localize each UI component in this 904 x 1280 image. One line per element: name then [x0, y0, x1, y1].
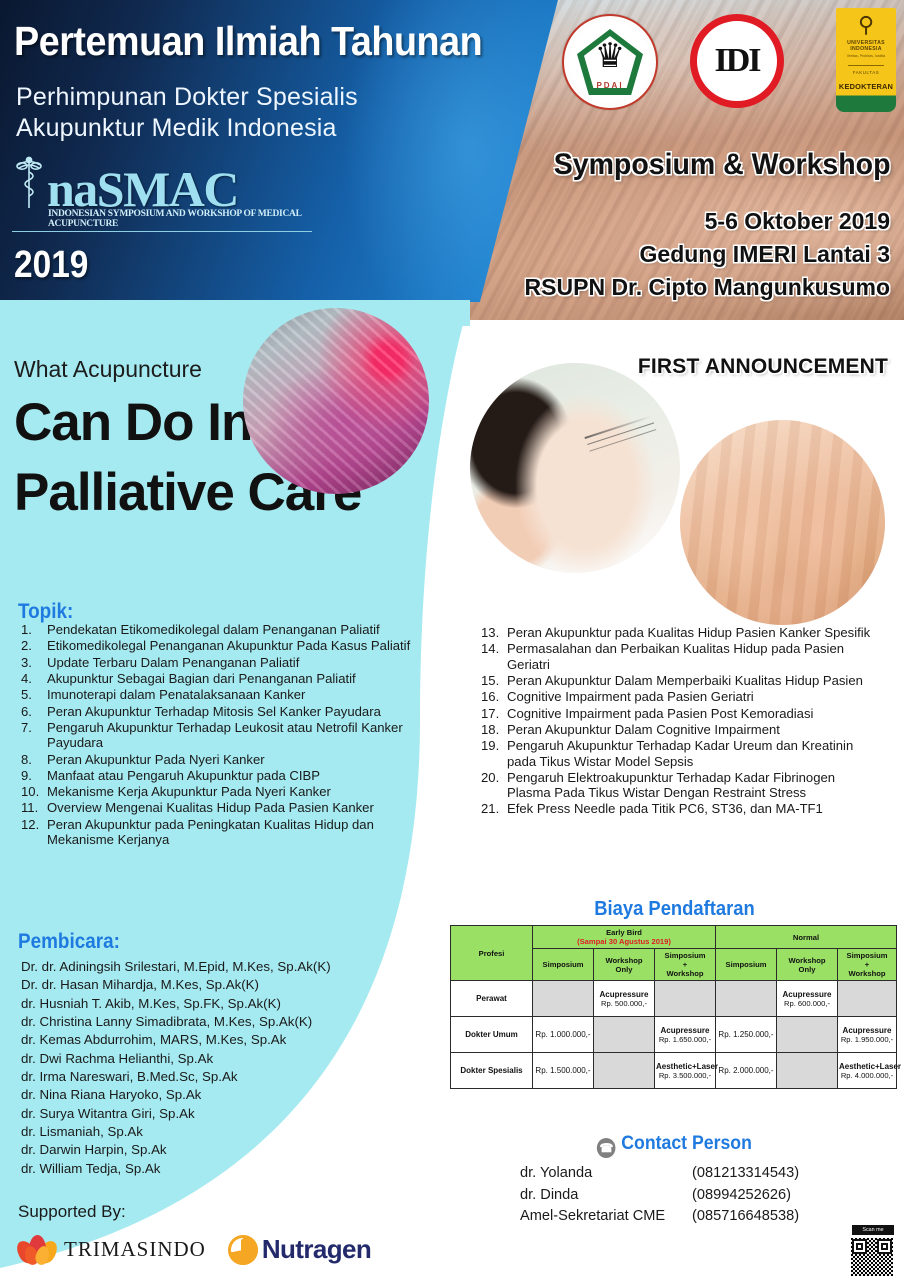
- caduceus-icon: [12, 156, 46, 212]
- col-header-simposium-workshop: Simposium+Workshop: [655, 949, 716, 981]
- topic-text: Overview Mengenai Kualitas Hidup Pada Pa…: [47, 800, 374, 815]
- facial-acupuncture-photo: [470, 363, 680, 573]
- fee-table-group-header-row: Profesi Early Bird (Sampai 30 Agustus 20…: [451, 926, 897, 949]
- topic-item: 6.Peran Akupunktur Terhadap Mitosis Sel …: [21, 704, 413, 719]
- topic-text: Pengaruh Akupunktur Terhadap Leukosit at…: [47, 720, 403, 750]
- contact-person-item: Amel-Sekretariat CME(085716648538): [520, 1206, 860, 1228]
- ui-crest-icon: ⚲: [858, 14, 874, 36]
- fee-cell: AcupressureRp. 500.000,-: [594, 981, 655, 1017]
- fee-package-label: Acupressure: [595, 990, 653, 999]
- topic-number: 19.: [481, 738, 504, 753]
- fee-cell: [716, 981, 777, 1017]
- speaker-item: dr. Lismaniah, Sp.Ak: [21, 1123, 421, 1141]
- fee-amount: Rp. 600.000,-: [778, 999, 836, 1008]
- topics-list-left: 1.Pendekatan Etikomedikolegal dalam Pena…: [21, 622, 413, 848]
- col-header-workshop-only: WorkshopOnly: [594, 949, 655, 981]
- nutragen-logo: Nutragen: [228, 1234, 371, 1265]
- pdai-logo: ♛ PDAI: [562, 14, 658, 110]
- topic-number: 18.: [481, 722, 504, 737]
- fee-package-label: Acupressure: [839, 1026, 895, 1035]
- topic-number: 1.: [21, 622, 44, 637]
- contact-person-item: dr. Dinda(08994252626): [520, 1185, 860, 1207]
- fee-cell: Rp. 1.500.000,-: [533, 1053, 594, 1089]
- topic-item: 2.Etikomedikolegal Penanganan Akupunktur…: [21, 638, 413, 653]
- speakers-heading: Pembicara:: [18, 930, 120, 954]
- topic-text: Peran Akupunktur Pada Nyeri Kanker: [47, 752, 265, 767]
- fee-cell: [594, 1053, 655, 1089]
- topic-text: Pengaruh Akupunktur Terhadap Kadar Ureum…: [507, 738, 853, 768]
- topic-text: Etikomedikolegal Penanganan Akupunktur P…: [47, 638, 410, 653]
- fee-amount: Rp. 1.250.000,-: [718, 1030, 773, 1039]
- topic-item: 21.Efek Press Needle pada Titik PC6, ST3…: [481, 801, 881, 816]
- topic-item: 13.Peran Akupunktur pada Kualitas Hidup …: [481, 625, 881, 640]
- qr-code[interactable]: [851, 1238, 893, 1276]
- topic-number: 15.: [481, 673, 504, 688]
- contact-name: dr. Yolanda: [520, 1163, 692, 1185]
- fees-heading: Biaya Pendaftaran: [463, 898, 885, 921]
- ui-faculty-label: FAKULTAS: [853, 70, 880, 75]
- contact-name: dr. Dinda: [520, 1185, 692, 1207]
- organization-subtitle: Perhimpunan Dokter Spesialis Akupunktur …: [16, 82, 358, 143]
- topic-item: 18.Peran Akupunktur Dalam Cognitive Impa…: [481, 722, 881, 737]
- trimasindo-logo: TRIMASINDO: [18, 1235, 206, 1265]
- topic-text: Cognitive Impairment pada Pasien Post Ke…: [507, 706, 813, 721]
- fee-row-profesi: Perawat: [451, 981, 533, 1017]
- topic-text: Cognitive Impairment pada Pasien Geriatr…: [507, 689, 754, 704]
- fee-cell: AcupressureRp. 1.650.000,-: [655, 1017, 716, 1053]
- topic-text: Peran Akupunktur Dalam Memperbaiki Kuali…: [507, 673, 863, 688]
- topic-number: 20.: [481, 770, 504, 785]
- subtitle-line-2: Akupunktur Medik Indonesia: [16, 113, 358, 144]
- topic-item: 7.Pengaruh Akupunktur Terhadap Leukosit …: [21, 720, 413, 751]
- topic-item: 14.Permasalahan dan Perbaikan Kualitas H…: [481, 641, 881, 672]
- fee-row-profesi: Dokter Umum: [451, 1017, 533, 1053]
- page-title: Pertemuan Ilmiah Tahunan: [14, 18, 482, 65]
- fee-cell: [777, 1053, 838, 1089]
- topic-text: Imunoterapi dalam Penatalaksanaan Kanker: [47, 687, 305, 702]
- topics-heading: Topik:: [18, 600, 73, 624]
- topic-item: 5.Imunoterapi dalam Penatalaksanaan Kank…: [21, 687, 413, 702]
- fee-cell: [594, 1017, 655, 1053]
- topic-item: 15.Peran Akupunktur Dalam Memperbaiki Ku…: [481, 673, 881, 688]
- topic-item: 9.Manfaat atau Pengaruh Akupunktur pada …: [21, 768, 413, 783]
- fee-package-label: Aesthetic+Laser: [656, 1062, 714, 1071]
- idi-logo-text: IDI: [714, 42, 759, 80]
- contact-person-list: dr. Yolanda(081213314543)dr. Dinda(08994…: [520, 1163, 860, 1228]
- topic-number: 6.: [21, 704, 44, 719]
- topic-text: Peran Akupunktur pada Peningkatan Kualit…: [47, 817, 374, 847]
- ui-university-name: UNIVERSITAS INDONESIA: [836, 40, 896, 52]
- headline-line-1: Can Do In: [14, 396, 252, 449]
- wheat-circle-icon: [228, 1235, 258, 1265]
- fee-cell: [777, 1017, 838, 1053]
- fee-amount: Rp. 1.500.000,-: [535, 1066, 590, 1075]
- topic-item: 19.Pengaruh Akupunktur Terhadap Kadar Ur…: [481, 738, 881, 769]
- topic-item: 10.Mekanisme Kerja Akupunktur Pada Nyeri…: [21, 784, 413, 799]
- acupressure-hand-photo: [680, 420, 885, 625]
- early-bird-deadline: (Sampai 30 Agustus 2019): [534, 937, 714, 946]
- topic-number: 9.: [21, 768, 44, 783]
- pdai-logo-text: PDAI: [577, 81, 643, 90]
- registration-fee-table: Profesi Early Bird (Sampai 30 Agustus 20…: [450, 925, 897, 1089]
- ui-faculty-name: KEDOKTERAN: [839, 82, 893, 91]
- fee-package-label: Acupressure: [656, 1026, 714, 1035]
- fee-cell: [533, 981, 594, 1017]
- fee-package-label: Aesthetic+Laser: [839, 1062, 895, 1071]
- supported-by-heading: Supported By:: [18, 1202, 126, 1222]
- early-bird-label: Early Bird: [606, 928, 642, 937]
- topic-number: 8.: [21, 752, 44, 767]
- topic-text: Pendekatan Etikomedikolegal dalam Penang…: [47, 622, 380, 637]
- laser-therapy-photo: [243, 308, 429, 494]
- event-date: 5-6 Oktober 2019: [705, 208, 890, 235]
- group-header-early-bird: Early Bird (Sampai 30 Agustus 2019): [533, 926, 716, 949]
- contact-phone[interactable]: (08994252626): [692, 1185, 791, 1207]
- phone-icon: ☎: [597, 1138, 616, 1158]
- fee-cell: AcupressureRp. 600.000,-: [777, 981, 838, 1017]
- topic-item: 8.Peran Akupunktur Pada Nyeri Kanker: [21, 752, 413, 767]
- fee-cell: Rp. 1.000.000,-: [533, 1017, 594, 1053]
- topic-number: 7.: [21, 720, 44, 735]
- topic-number: 16.: [481, 689, 504, 704]
- fee-amount: Rp. 3.500.000,-: [656, 1071, 714, 1080]
- fee-amount: Rp. 4.000.000,-: [839, 1071, 895, 1080]
- lotus-icon: [18, 1235, 56, 1265]
- topic-number: 3.: [21, 655, 44, 670]
- fee-amount: Rp. 1.650.000,-: [656, 1035, 714, 1044]
- nutragen-wordmark: Nutragen: [262, 1234, 371, 1265]
- speaker-item: dr. Darwin Harpin, Sp.Ak: [21, 1141, 421, 1159]
- col-header-simposium: Simposium: [533, 949, 594, 981]
- contact-heading-text: Contact Person: [621, 1133, 752, 1154]
- fee-package-label: Acupressure: [778, 990, 836, 999]
- topic-item: 1.Pendekatan Etikomedikolegal dalam Pena…: [21, 622, 413, 637]
- topic-item: 20.Pengaruh Elektroakupunktur Terhadap K…: [481, 770, 881, 801]
- event-type: Symposium & Workshop: [553, 148, 890, 182]
- topic-number: 10.: [21, 784, 44, 799]
- universitas-indonesia-logo: ⚲ UNIVERSITAS INDONESIA Veritas, Probita…: [836, 8, 896, 112]
- fee-row-profesi: Dokter Spesialis: [451, 1053, 533, 1089]
- speaker-item: dr. Christina Lanny Simadibrata, M.Kes, …: [21, 1013, 421, 1031]
- topic-text: Akupunktur Sebagai Bagian dari Penangana…: [47, 671, 356, 686]
- topic-number: 14.: [481, 641, 504, 656]
- contact-phone[interactable]: (085716648538): [692, 1206, 799, 1228]
- fee-table-row: Dokter UmumRp. 1.000.000,-AcupressureRp.…: [451, 1017, 897, 1053]
- fee-cell: AcupressureRp. 1.950.000,-: [838, 1017, 897, 1053]
- fee-cell: Rp. 2.000.000,-: [716, 1053, 777, 1089]
- topic-number: 13.: [481, 625, 504, 640]
- topic-item: 3.Update Terbaru Dalam Penanganan Paliat…: [21, 655, 413, 670]
- topic-text: Mekanisme Kerja Akupunktur Pada Nyeri Ka…: [47, 784, 331, 799]
- first-announcement-badge: FIRST ANNOUNCEMENT: [638, 355, 888, 379]
- topic-text: Peran Akupunktur Dalam Cognitive Impairm…: [507, 722, 780, 737]
- topic-item: 4.Akupunktur Sebagai Bagian dari Penanga…: [21, 671, 413, 686]
- col-header-profesi: Profesi: [451, 926, 533, 981]
- headline-small: What Acupuncture: [14, 356, 202, 383]
- speakers-list: Dr. dr. Adiningsih Srilestari, M.Epid, M…: [21, 958, 421, 1178]
- fee-amount: Rp. 1.000.000,-: [535, 1030, 590, 1039]
- nasmac-tagline: INDONESIAN SYMPOSIUM AND WORKSHOP OF MED…: [12, 209, 312, 232]
- topic-number: 5.: [21, 687, 44, 702]
- subtitle-line-1: Perhimpunan Dokter Spesialis: [16, 82, 358, 113]
- fee-table-row: Dokter SpesialisRp. 1.500.000,-Aesthetic…: [451, 1053, 897, 1089]
- trimasindo-wordmark: TRIMASINDO: [64, 1237, 206, 1262]
- fee-cell: Aesthetic+LaserRp. 3.500.000,-: [655, 1053, 716, 1089]
- topic-text: Permasalahan dan Perbaikan Kualitas Hidu…: [507, 641, 844, 671]
- topics-list-right: 13.Peran Akupunktur pada Kualitas Hidup …: [481, 625, 881, 818]
- speaker-item: dr. Surya Witantra Giri, Sp.Ak: [21, 1105, 421, 1123]
- fee-table-row: PerawatAcupressureRp. 500.000,-Acupressu…: [451, 981, 897, 1017]
- idi-logo: IDI: [690, 14, 784, 108]
- fee-amount: Rp. 2.000.000,-: [718, 1066, 773, 1075]
- topic-number: 11.: [21, 800, 44, 815]
- fee-amount: Rp. 500.000,-: [595, 999, 653, 1008]
- speaker-item: dr. William Tedja, Sp.Ak: [21, 1160, 421, 1178]
- fee-table-body: PerawatAcupressureRp. 500.000,-Acupressu…: [451, 981, 897, 1089]
- nasmac-logo: naSMAC INDONESIAN SYMPOSIUM AND WORKSHOP…: [12, 156, 312, 232]
- topic-item: 12.Peran Akupunktur pada Peningkatan Kua…: [21, 817, 413, 848]
- topic-item: 17.Cognitive Impairment pada Pasien Post…: [481, 706, 881, 721]
- speaker-item: Dr. dr. Adiningsih Srilestari, M.Epid, M…: [21, 958, 421, 976]
- fee-cell: [838, 981, 897, 1017]
- ui-motto: Veritas, Probitas, Iustitia: [847, 54, 886, 58]
- topic-text: Peran Akupunktur pada Kualitas Hidup Pas…: [507, 625, 870, 640]
- speaker-item: dr. Dwi Rachma Helianthi, Sp.Ak: [21, 1050, 421, 1068]
- contact-name: Amel-Sekretariat CME: [520, 1206, 692, 1228]
- topic-text: Manfaat atau Pengaruh Akupunktur pada CI…: [47, 768, 320, 783]
- topic-item: 16.Cognitive Impairment pada Pasien Geri…: [481, 689, 881, 704]
- topic-text: Pengaruh Elektroakupunktur Terhadap Kada…: [507, 770, 835, 800]
- topic-text: Update Terbaru Dalam Penanganan Paliatif: [47, 655, 299, 670]
- topic-number: 12.: [21, 817, 44, 832]
- event-hospital: RSUPN Dr. Cipto Mangunkusumo: [525, 274, 890, 301]
- conference-poster: Pertemuan Ilmiah Tahunan Perhimpunan Dok…: [0, 0, 904, 1280]
- speaker-item: dr. Kemas Abdurrohim, MARS, M.Kes, Sp.Ak: [21, 1031, 421, 1049]
- ui-divider: [848, 65, 884, 66]
- topic-number: 4.: [21, 671, 44, 686]
- group-header-normal: Normal: [716, 926, 897, 949]
- topic-text: Efek Press Needle pada Titik PC6, ST36, …: [507, 801, 823, 816]
- contact-person-item: dr. Yolanda(081213314543): [520, 1163, 860, 1185]
- fee-cell: [655, 981, 716, 1017]
- speaker-item: dr. Irma Nareswari, B.Med.Sc, Sp.Ak: [21, 1068, 421, 1086]
- speaker-item: dr. Husniah T. Akib, M.Kes, Sp.FK, Sp.Ak…: [21, 995, 421, 1013]
- col-header-simposium: Simposium: [716, 949, 777, 981]
- topic-item: 11.Overview Mengenai Kualitas Hidup Pada…: [21, 800, 413, 815]
- col-header-workshop-only: WorkshopOnly: [777, 949, 838, 981]
- event-year: 2019: [14, 244, 88, 287]
- speaker-item: Dr. dr. Hasan Mihardja, M.Kes, Sp.Ak(K): [21, 976, 421, 994]
- fee-cell: Aesthetic+LaserRp. 4.000.000,-: [838, 1053, 897, 1089]
- contact-heading: ☎Contact Person: [461, 1133, 888, 1158]
- col-header-simposium-workshop: Simposium+Workshop: [838, 949, 897, 981]
- topic-number: 17.: [481, 706, 504, 721]
- topic-number: 2.: [21, 638, 44, 653]
- fee-amount: Rp. 1.950.000,-: [839, 1035, 895, 1044]
- qr-scan-label: Scan me: [852, 1225, 894, 1235]
- speaker-item: dr. Nina Riana Haryoko, Sp.Ak: [21, 1086, 421, 1104]
- topic-number: 21.: [481, 801, 504, 816]
- contact-phone[interactable]: (081213314543): [692, 1163, 799, 1185]
- sponsor-logos: TRIMASINDO Nutragen: [18, 1234, 371, 1265]
- nasmac-wordmark: naSMAC: [47, 166, 238, 212]
- asclepius-snake-icon: ♛: [595, 39, 625, 73]
- fee-cell: Rp. 1.250.000,-: [716, 1017, 777, 1053]
- topic-text: Peran Akupunktur Terhadap Mitosis Sel Ka…: [47, 704, 381, 719]
- event-venue: Gedung IMERI Lantai 3: [640, 241, 890, 268]
